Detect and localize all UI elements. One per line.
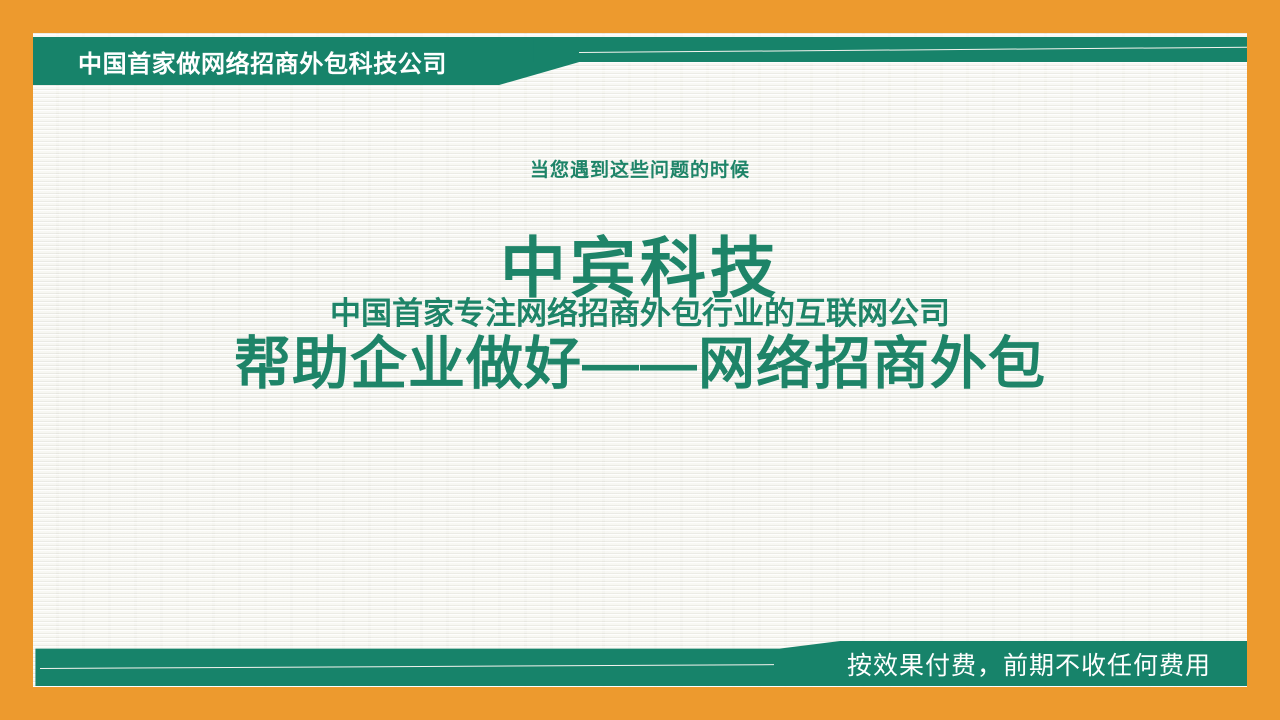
slide-content-panel: 中国首家做网络招商外包科技公司 当您遇到这些问题的时候 中宾科技 中国首家专注网…: [33, 33, 1247, 687]
header-banner: 中国首家做网络招商外包科技公司: [33, 37, 1247, 85]
brand-tagline: 中国首家专注网络招商外包行业的互联网公司: [33, 297, 1247, 331]
header-title: 中国首家做网络招商外包科技公司: [78, 37, 447, 85]
footer-tagline: 按效果付费，前期不收任何费用: [847, 641, 1211, 686]
presentation-slide: 中国首家做网络招商外包科技公司 当您遇到这些问题的时候 中宾科技 中国首家专注网…: [0, 0, 1280, 720]
eyebrow-text: 当您遇到这些问题的时候: [33, 161, 1247, 180]
headline-block: 当您遇到这些问题的时候 中宾科技 中国首家专注网络招商外包行业的互联网公司 帮助…: [33, 161, 1247, 397]
footer-banner: 按效果付费，前期不收任何费用: [33, 641, 1247, 686]
value-statement: 帮助企业做好——网络招商外包: [33, 333, 1247, 397]
brand-name: 中宾科技: [33, 235, 1247, 301]
